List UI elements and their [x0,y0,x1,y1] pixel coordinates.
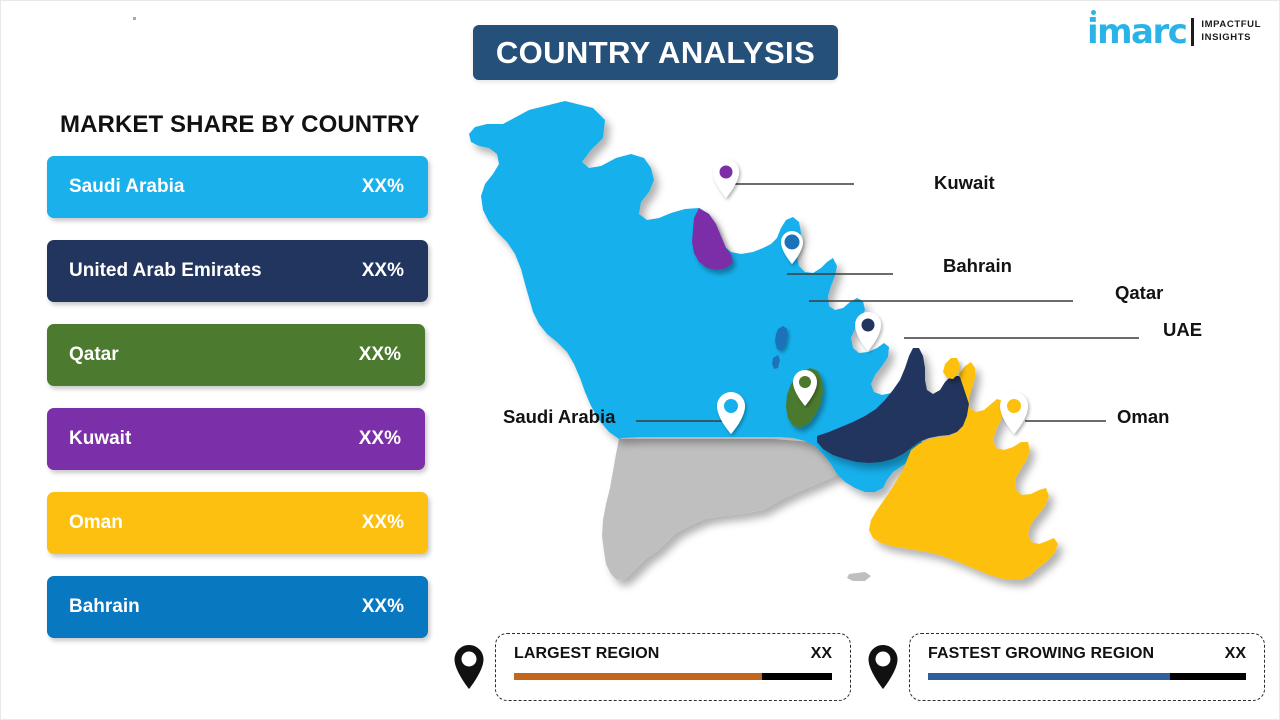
location-pin-icon [453,644,485,690]
fastest-growing-region-progress-track [928,673,1246,680]
share-bar-label: Bahrain [69,596,362,618]
map-region-oman-musandam [943,358,960,379]
location-pin-icon [867,644,899,690]
market-share-heading: MARKET SHARE BY COUNTRY [60,111,420,139]
share-bar-value: XX% [359,428,401,450]
map-pin-oman[interactable] [1000,392,1028,434]
share-bar-bahrain[interactable]: Bahrain XX% [47,576,428,638]
fastest-growing-region-box: FASTEST GROWING REGION XX [909,633,1265,701]
share-bar-value: XX% [362,260,404,282]
logo-wordmark: imarc [1087,15,1186,49]
logo-dot-icon [1091,10,1096,15]
share-bar-label: Qatar [69,344,359,366]
largest-region-box: LARGEST REGION XX [495,633,851,701]
share-bar-saudi-arabia[interactable]: Saudi Arabia XX% [47,156,428,218]
market-share-list: Saudi Arabia XX% United Arab Emirates XX… [47,156,432,660]
share-bar-label: Oman [69,512,362,534]
map-region-yemen[interactable] [602,439,853,580]
fastest-growing-region-panel: FASTEST GROWING REGION XX [867,633,1265,701]
page-title: COUNTRY ANALYSIS [496,35,815,71]
map-pin-uae[interactable] [855,312,881,351]
map-label-uae: UAE [1163,319,1202,341]
share-bar-value: XX% [362,176,404,198]
largest-region-value: XX [811,645,832,663]
share-bar-value: XX% [362,512,404,534]
fastest-growing-region-value: XX [1225,645,1246,663]
share-bar-value: XX% [359,344,401,366]
share-bar-kuwait[interactable]: Kuwait XX% [47,408,425,470]
largest-region-progress-fill [514,673,762,680]
map-label-oman: Oman [1117,406,1169,428]
fastest-growing-region-progress-fill [928,673,1170,680]
decorative-speck [133,17,136,20]
map-svg [441,96,1280,631]
imarc-logo: imarc IMPACTFUL INSIGHTS [1087,13,1261,51]
largest-region-label: LARGEST REGION [514,645,659,663]
share-bar-qatar[interactable]: Qatar XX% [47,324,425,386]
country-analysis-slide: COUNTRY ANALYSIS imarc IMPACTFUL INSIGHT… [0,0,1280,720]
map-pin-kuwait[interactable] [713,159,739,198]
map-label-qatar: Qatar [1115,282,1163,304]
largest-region-panel: LARGEST REGION XX [453,633,851,701]
page-title-banner: COUNTRY ANALYSIS [473,25,838,80]
logo-wordmark-text: imarc [1087,12,1186,52]
largest-region-progress-track [514,673,832,680]
share-bar-oman[interactable]: Oman XX% [47,492,428,554]
logo-tagline-line2: INSIGHTS [1201,32,1261,45]
logo-divider [1191,18,1194,46]
fastest-growing-region-label: FASTEST GROWING REGION [928,645,1154,663]
share-bar-label: United Arab Emirates [69,260,362,282]
logo-tagline-line1: IMPACTFUL [1201,19,1261,32]
map-label-kuwait: Kuwait [934,172,995,194]
map-label-saudi-arabia: Saudi Arabia [503,406,615,428]
map-island [847,572,871,581]
share-bar-label: Saudi Arabia [69,176,362,198]
logo-tagline: IMPACTFUL INSIGHTS [1201,19,1261,45]
map-label-bahrain: Bahrain [943,255,1012,277]
share-bar-value: XX% [362,596,404,618]
share-bar-united-arab-emirates[interactable]: United Arab Emirates XX% [47,240,428,302]
share-bar-label: Kuwait [69,428,359,450]
middle-east-map: Kuwait Bahrain Qatar UAE Saudi Arabia Om… [441,96,1280,631]
